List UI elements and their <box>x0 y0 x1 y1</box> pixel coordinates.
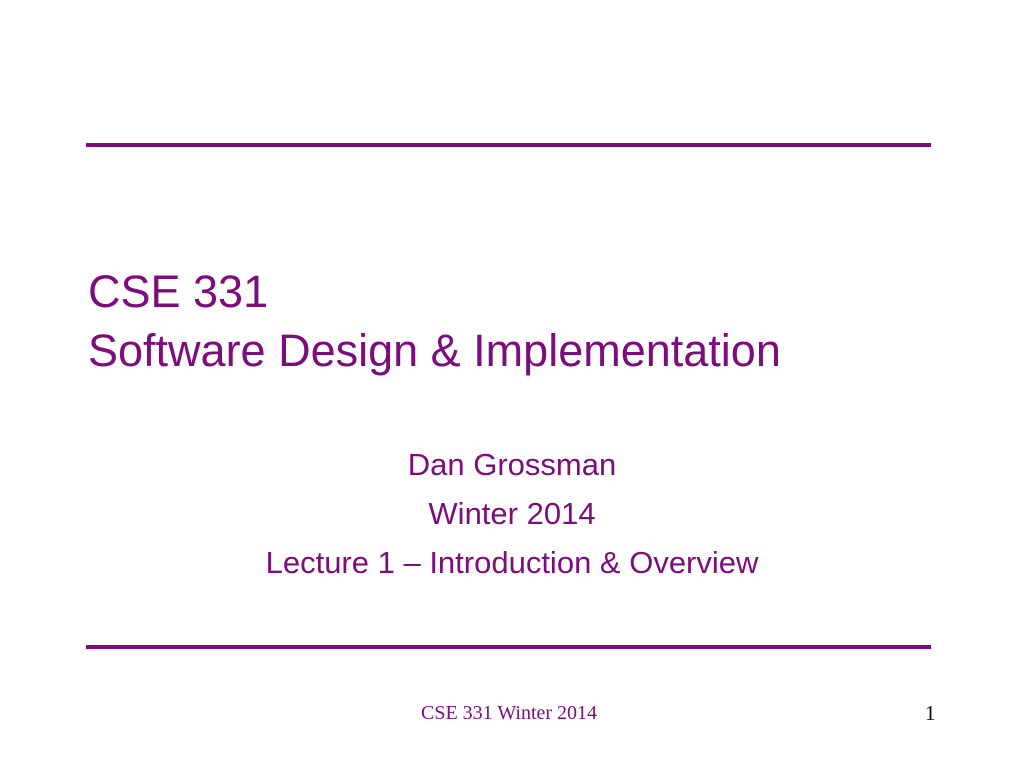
page-title-line-1: CSE 331 <box>88 262 948 321</box>
slide-canvas: CSE 331 Software Design & Implementation… <box>0 0 1024 768</box>
title-block: CSE 331 Software Design & Implementation <box>88 262 948 380</box>
divider-bottom <box>86 645 931 649</box>
subtitle-term: Winter 2014 <box>0 489 1024 538</box>
slide-footer: CSE 331 Winter 2014 1 <box>0 700 1024 732</box>
divider-top <box>86 143 931 147</box>
subtitle-author: Dan Grossman <box>0 440 1024 489</box>
footer-page-number: 1 <box>925 700 949 726</box>
subtitle-block: Dan Grossman Winter 2014 Lecture 1 – Int… <box>0 440 1024 587</box>
footer-course-label: CSE 331 Winter 2014 <box>421 700 597 726</box>
subtitle-lecture: Lecture 1 – Introduction & Overview <box>0 538 1024 587</box>
page-title-line-2: Software Design & Implementation <box>88 321 948 380</box>
